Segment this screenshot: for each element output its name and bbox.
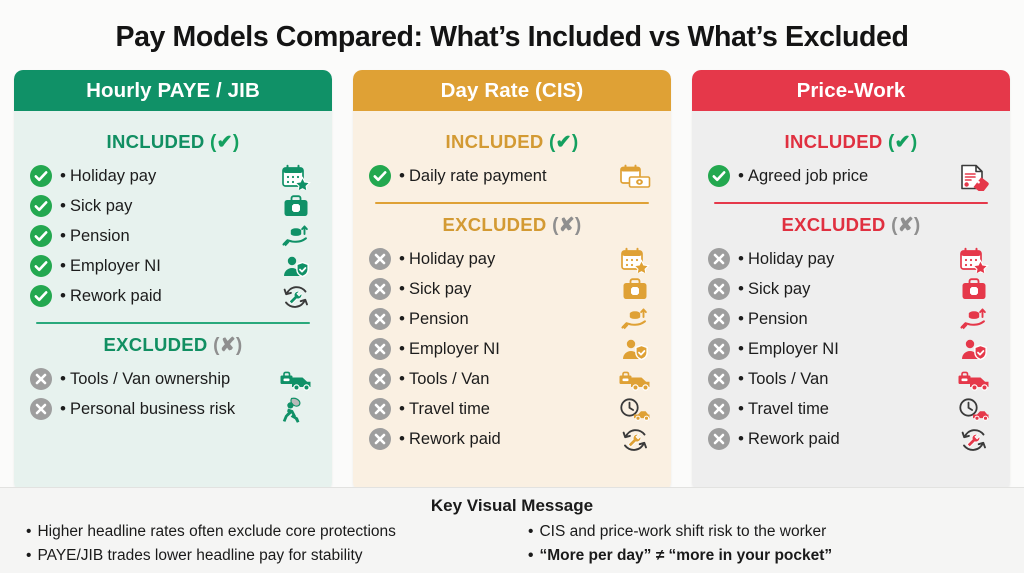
x-circle-icon [708, 428, 730, 450]
wrench-refresh-icon [613, 425, 657, 455]
list-item-label: Holiday pay [409, 246, 613, 269]
bullet-dot: • [56, 223, 70, 249]
list-item: •Rework paid [369, 426, 657, 455]
toolbox-van-icon [613, 365, 657, 395]
list-item-label: Pension [748, 306, 952, 329]
list-item-label: Agreed job price [748, 163, 952, 186]
bullet-dot: • [395, 396, 409, 422]
pay-model-card-price-work: Price-WorkINCLUDED (✔)•Agreed job price … [692, 70, 1010, 491]
footer-list-item-text: “More per day” ≠ “more in your pocket” [539, 547, 832, 564]
person-carrying-load-icon [274, 395, 318, 425]
list-item: •Tools / Van [369, 366, 657, 395]
list-item-label: Employer NI [748, 336, 952, 359]
key-message-footer: Key Visual Message •Higher headline rate… [0, 487, 1024, 573]
hand-coins-icon [613, 305, 657, 335]
included-list: •Agreed job price [692, 163, 1010, 192]
clock-car-icon [952, 395, 996, 425]
bullet-dot: • [395, 276, 409, 302]
bullet-dot: • [734, 276, 748, 302]
bullet-dot: • [734, 396, 748, 422]
check-mark-icon: (✔) [210, 131, 239, 154]
list-item: •Pension [369, 306, 657, 335]
bullet-dot: • [734, 306, 748, 332]
infographic-page: Pay Models Compared: What’s Included vs … [0, 0, 1024, 573]
x-circle-icon [30, 368, 52, 390]
calendar-star-icon [613, 245, 657, 275]
list-item: •Employer NI [708, 336, 996, 365]
list-item: •Daily rate payment [369, 163, 657, 192]
card-header-hourly-paye-jib: Hourly PAYE / JIB [14, 70, 332, 111]
list-item: •Tools / Van ownership [30, 366, 318, 395]
x-circle-icon [708, 308, 730, 330]
medical-kit-icon [952, 275, 996, 305]
included-section-label: INCLUDED [785, 131, 883, 152]
bullet-dot: • [528, 523, 533, 540]
check-mark-icon: (✔) [888, 131, 917, 154]
list-item: •Travel time [369, 396, 657, 425]
x-circle-icon [369, 368, 391, 390]
list-item: •Rework paid [708, 426, 996, 455]
footer-title: Key Visual Message [0, 496, 1024, 516]
list-item-label: Tools / Van [409, 366, 613, 389]
x-circle-icon [369, 398, 391, 420]
section-divider [375, 202, 649, 204]
bullet-dot: • [734, 163, 748, 189]
calendar-star-icon [274, 162, 318, 192]
medical-kit-icon [613, 275, 657, 305]
list-item-label: Sick pay [748, 276, 952, 299]
x-circle-icon [369, 248, 391, 270]
list-item: •Pension [30, 223, 318, 252]
pay-model-card-day-rate-cis: Day Rate (CIS)INCLUDED (✔)•Daily rate pa… [353, 70, 671, 491]
bullet-dot: • [395, 163, 409, 189]
medical-kit-icon [274, 192, 318, 222]
card-body-price-work: INCLUDED (✔)•Agreed job price EXCLUDED (… [692, 111, 1010, 491]
check-circle-icon [369, 165, 391, 187]
list-item: •Pension [708, 306, 996, 335]
list-item: •Holiday pay [30, 163, 318, 192]
wrench-refresh-icon [952, 425, 996, 455]
bullet-dot: • [56, 366, 70, 392]
person-shield-icon [952, 335, 996, 365]
hand-coins-icon [274, 222, 318, 252]
bullet-dot: • [734, 366, 748, 392]
check-circle-icon [30, 165, 52, 187]
footer-columns: •Higher headline rates often exclude cor… [0, 520, 1024, 569]
list-item: •Employer NI [30, 253, 318, 282]
list-item-label: Tools / Van ownership [70, 366, 274, 389]
list-item-label: Sick pay [70, 193, 274, 216]
bullet-dot: • [395, 426, 409, 452]
bullet-dot: • [734, 246, 748, 272]
check-mark-icon: (✔) [549, 131, 578, 154]
excluded-list: •Tools / Van ownership •Personal busines… [14, 366, 332, 425]
clock-car-icon [613, 395, 657, 425]
included-section-label: INCLUDED [446, 131, 544, 152]
excluded-section-heading: EXCLUDED (✘) [692, 206, 1010, 246]
pay-model-card-hourly-paye-jib: Hourly PAYE / JIBINCLUDED (✔)•Holiday pa… [14, 70, 332, 491]
list-item: •Employer NI [369, 336, 657, 365]
bullet-dot: • [56, 283, 70, 309]
toolbox-van-icon [274, 365, 318, 395]
x-circle-icon [708, 278, 730, 300]
included-section-heading: INCLUDED (✔) [14, 123, 332, 163]
bullet-dot: • [56, 193, 70, 219]
list-item-label: Holiday pay [748, 246, 952, 269]
bullet-dot: • [734, 426, 748, 452]
contract-tag-icon [952, 162, 996, 192]
wrench-refresh-icon [274, 282, 318, 312]
check-circle-icon [30, 255, 52, 277]
card-header-price-work: Price-Work [692, 70, 1010, 111]
list-item-label: Tools / Van [748, 366, 952, 389]
footer-list-item: •Higher headline rates often exclude cor… [26, 520, 512, 544]
list-item: •Sick pay [708, 276, 996, 305]
footer-column-left: •Higher headline rates often exclude cor… [26, 520, 512, 569]
excluded-section-label: EXCLUDED [442, 214, 546, 235]
bullet-dot: • [56, 253, 70, 279]
list-item-label: Employer NI [409, 336, 613, 359]
list-item: •Personal business risk [30, 396, 318, 425]
included-list: •Daily rate payment [353, 163, 671, 192]
x-circle-icon [708, 248, 730, 270]
footer-list-item-text: CIS and price-work shift risk to the wor… [539, 523, 826, 540]
x-circle-icon [708, 398, 730, 420]
footer-column-right: •CIS and price-work shift risk to the wo… [512, 520, 998, 569]
footer-list-item: •PAYE/JIB trades lower headline pay for … [26, 544, 512, 568]
x-circle-icon [369, 308, 391, 330]
list-item-label: Daily rate payment [409, 163, 613, 186]
section-divider [36, 322, 310, 324]
footer-list-item: •CIS and price-work shift risk to the wo… [528, 520, 998, 544]
x-mark-icon: (✘) [891, 214, 920, 237]
bullet-dot: • [395, 366, 409, 392]
bullet-dot: • [26, 547, 31, 564]
list-item-label: Travel time [409, 396, 613, 419]
list-item-label: Rework paid [748, 426, 952, 449]
list-item: •Sick pay [369, 276, 657, 305]
excluded-section-label: EXCLUDED [781, 214, 885, 235]
list-item-label: Rework paid [70, 283, 274, 306]
list-item-label: Sick pay [409, 276, 613, 299]
calendar-star-icon [952, 245, 996, 275]
list-item: •Tools / Van [708, 366, 996, 395]
list-item-label: Rework paid [409, 426, 613, 449]
comparison-columns: Hourly PAYE / JIBINCLUDED (✔)•Holiday pa… [0, 54, 1024, 491]
bullet-dot: • [26, 523, 31, 540]
list-item-label: Pension [409, 306, 613, 329]
toolbox-van-icon [952, 365, 996, 395]
included-section-heading: INCLUDED (✔) [353, 123, 671, 163]
x-circle-icon [30, 398, 52, 420]
list-item: •Rework paid [30, 283, 318, 312]
excluded-list: •Holiday pay •Sick pay •Pension •Employe… [692, 246, 1010, 455]
footer-list-item-text: PAYE/JIB trades lower headline pay for s… [37, 547, 362, 564]
x-circle-icon [708, 338, 730, 360]
bullet-dot: • [395, 306, 409, 332]
x-circle-icon [369, 338, 391, 360]
card-body-hourly-paye-jib: INCLUDED (✔)•Holiday pay •Sick pay •Pens… [14, 111, 332, 491]
section-divider [714, 202, 988, 204]
list-item-label: Employer NI [70, 253, 274, 276]
list-item: •Travel time [708, 396, 996, 425]
x-circle-icon [369, 278, 391, 300]
excluded-section-heading: EXCLUDED (✘) [353, 206, 671, 246]
list-item: •Holiday pay [369, 246, 657, 275]
bullet-dot: • [395, 336, 409, 362]
excluded-list: •Holiday pay •Sick pay •Pension •Employe… [353, 246, 671, 455]
x-circle-icon [708, 368, 730, 390]
bullet-dot: • [734, 336, 748, 362]
list-item-label: Personal business risk [70, 396, 274, 419]
included-list: •Holiday pay •Sick pay •Pension •Employe… [14, 163, 332, 312]
list-item: •Agreed job price [708, 163, 996, 192]
included-section-label: INCLUDED [107, 131, 205, 152]
footer-list-item: •“More per day” ≠ “more in your pocket” [528, 544, 998, 568]
bullet-dot: • [528, 547, 533, 564]
person-shield-icon [613, 335, 657, 365]
card-body-day-rate-cis: INCLUDED (✔)•Daily rate payment EXCLUDED… [353, 111, 671, 491]
check-circle-icon [708, 165, 730, 187]
footer-list-item-text: Higher headline rates often exclude core… [37, 523, 395, 540]
bullet-dot: • [395, 246, 409, 272]
check-circle-icon [30, 285, 52, 307]
list-item-label: Pension [70, 223, 274, 246]
bullet-dot: • [56, 396, 70, 422]
list-item: •Holiday pay [708, 246, 996, 275]
list-item: •Sick pay [30, 193, 318, 222]
card-header-day-rate-cis: Day Rate (CIS) [353, 70, 671, 111]
calendar-cash-icon [613, 162, 657, 192]
person-shield-icon [274, 252, 318, 282]
x-circle-icon [369, 428, 391, 450]
included-section-heading: INCLUDED (✔) [692, 123, 1010, 163]
check-circle-icon [30, 225, 52, 247]
list-item-label: Holiday pay [70, 163, 274, 186]
page-title: Pay Models Compared: What’s Included vs … [0, 0, 1024, 54]
check-circle-icon [30, 195, 52, 217]
hand-coins-icon [952, 305, 996, 335]
excluded-section-heading: EXCLUDED (✘) [14, 326, 332, 366]
x-mark-icon: (✘) [552, 214, 581, 237]
excluded-section-label: EXCLUDED [103, 334, 207, 355]
list-item-label: Travel time [748, 396, 952, 419]
bullet-dot: • [56, 163, 70, 189]
x-mark-icon: (✘) [213, 334, 242, 357]
